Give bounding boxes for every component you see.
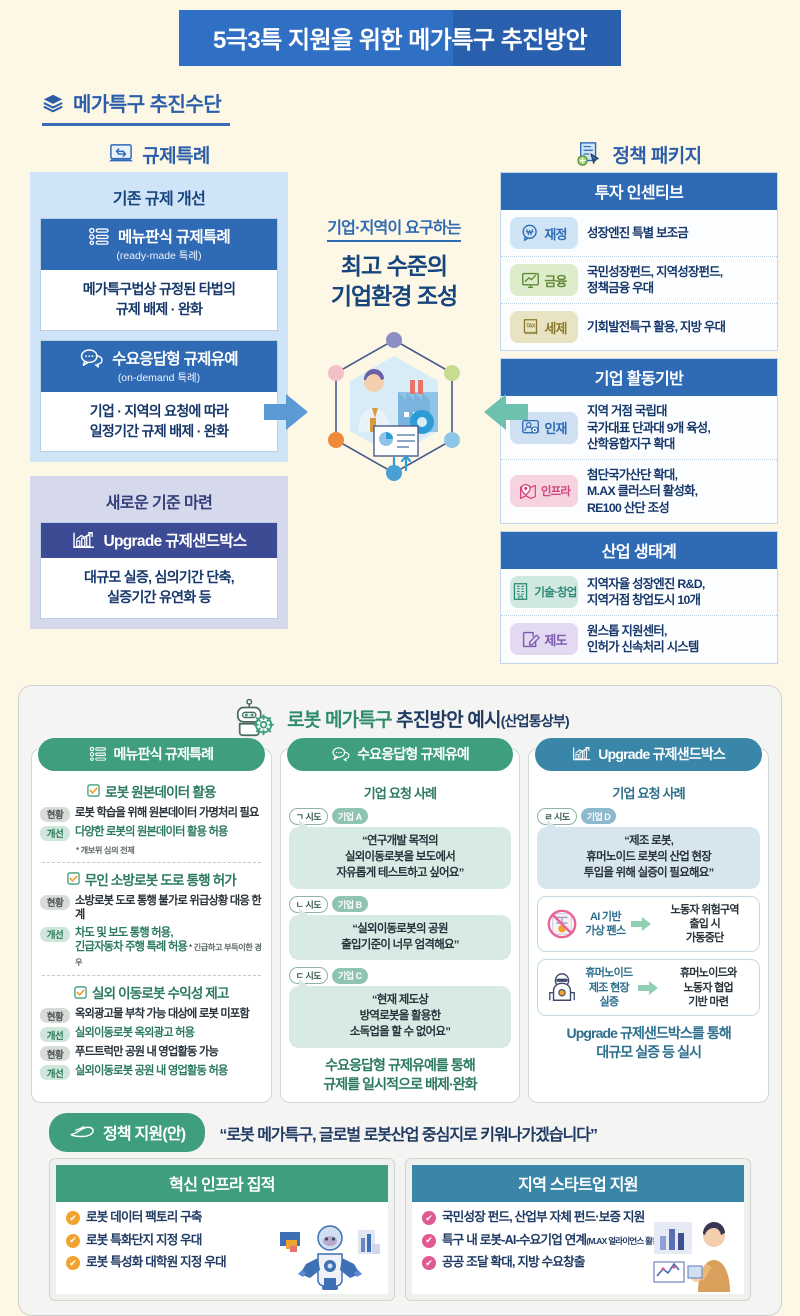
card-body-line2: 실증기간 유연화 등	[47, 587, 271, 607]
arrow-left-teal-icon	[482, 392, 528, 432]
check-square-icon	[74, 986, 87, 999]
bubble-tags: ㄴ 시도기업 B	[289, 896, 512, 913]
demo-result: 노동자 위험구역출입 시가동중단	[657, 903, 752, 946]
row-note: * 긴급하고 부득이한 경우	[75, 943, 262, 967]
status-improvement-row: 현황소방로봇 도로 통행 불가로 위급상황 대응 한계	[40, 894, 263, 923]
robot-panels: 메뉴판식 규제특례 로봇 원본데이터 활용현황로봇 학습을 위해 원본데이터 가…	[31, 748, 769, 1104]
chat-bubble-icon	[331, 746, 351, 762]
request-bubble: ㄴ 시도기업 B“실외이동로봇의 공원출입기준이 너무 엄격해요”	[289, 896, 512, 961]
demo-label: 휴머노이드제조 현장실증	[585, 966, 632, 1009]
left-column: 규제특례 기존 규제 개선 메뉴판식 규제특례 (ready-made 특례)	[30, 136, 288, 671]
policy-row-text: 첨단국가산단 확대,M.AX 클러스터 활성화,RE100 산단 조성	[587, 467, 697, 516]
check-circle-icon: ✔	[422, 1234, 436, 1248]
divider	[42, 975, 261, 976]
policy-chip-label: 금융	[544, 271, 566, 290]
hexagon-business-illustration	[314, 330, 474, 488]
right-column-title: 정책 패키지	[500, 136, 778, 172]
bubble-text: “실외이동로봇의 공원출입기준이 너무 엄격해요”	[289, 915, 512, 961]
item-note: * 개보위 심의 전제	[76, 844, 263, 856]
bottom-item-text: 로봇 특화단지 지정 우대	[86, 1233, 202, 1249]
conclusion-line2: 대규모 실증 등 실시	[537, 1043, 760, 1062]
bubble-list: ㄹ 시도기업 D“제조 로봇,휴머노이드 로봇의 산업 현장투입을 위해 실증이…	[537, 808, 760, 889]
request-bubble: ㄹ 시도기업 D“제조 로봇,휴머노이드 로봇의 산업 현장투입을 위해 실증이…	[537, 808, 760, 889]
policy-row-text: 지역 거점 국립대국가대표 단과대 9개 육성,산학융합지구 확대	[587, 403, 710, 452]
card-menu-type-special[interactable]: 메뉴판식 규제특례 (ready-made 특례) 메가특구법상 규정된 타법의…	[40, 218, 278, 331]
robot-title-sub: (산업통상부)	[501, 713, 569, 729]
policy-row[interactable]: 인프라첨단국가산단 확대,M.AX 클러스터 활성화,RE100 산단 조성	[501, 460, 777, 523]
panel-conclusion: Upgrade 규제샌드박스를 통해 대규모 실증 등 실시	[537, 1024, 760, 1062]
row-text: 실외이동로봇 옥외광고 허용	[75, 1026, 194, 1041]
conclusion-line2: 규제를 일시적으로 배제·완화	[289, 1075, 512, 1094]
bottom-col-infra: 혁신 인프라 집적 ✔로봇 데이터 팩토리 구축✔로봇 특화단지 지정 우대✔로…	[49, 1158, 395, 1301]
row-text: 차도 및 보도 통행 허용,긴급자동차 주행 특례 허용 * 긴급하고 부득이한…	[75, 926, 263, 970]
band-existing-regulation: 기존 규제 개선 메뉴판식 규제특례 (ready-made 특례) 메가특구법	[30, 172, 288, 462]
item-title-label: 로봇 원본데이터 활용	[105, 781, 215, 801]
center-headline-line2: 기업환경 조성	[288, 282, 500, 312]
bubble-tags: ㄱ 시도기업 A	[289, 808, 512, 825]
conclusion-line1: Upgrade 규제샌드박스를 통해	[537, 1024, 760, 1043]
card-body: 기업 · 지역의 요청에 따라 일정기간 규제 배제 · 완화	[41, 392, 277, 452]
right-column: 정책 패키지 투자 인센티브재정성장엔진 특별 보조금금융국민성장펀드, 지역성…	[500, 136, 778, 671]
status-improvement-row: 개선실외이동로봇 공원 내 영업활동 허용	[40, 1064, 263, 1080]
policy-row-text: 국민성장펀드, 지역성장펀드,정책금융 우대	[587, 264, 723, 296]
policy-group-header: 투자 인센티브	[501, 173, 777, 210]
policy-quote: “로봇 메가특구, 글로벌 로봇산업 중심지로 키워나가겠습니다”	[219, 1121, 597, 1145]
demo-row: 휴머노이드제조 현장실증휴머노이드와노동자 협업기반 마련	[537, 959, 760, 1016]
left-column-title: 규제특례	[30, 136, 288, 172]
bubble-text: “제조 로봇,휴머노이드 로봇의 산업 현장투입을 위해 실증이 필요해요”	[537, 827, 760, 889]
item-title-label: 실외 이동로봇 수익성 제고	[92, 982, 229, 1002]
card-header: 수요응답형 규제유예 (on-demand 특례)	[41, 341, 277, 392]
bottom-col-header: 혁신 인프라 집적	[56, 1165, 388, 1202]
chat-bubble-icon	[80, 348, 104, 368]
row-tag: 개선	[40, 826, 70, 841]
no-entry-fence-icon	[545, 908, 579, 940]
layers-icon	[42, 92, 64, 114]
card-header: Upgrade 규제샌드박스	[41, 523, 277, 558]
band-title: 새로운 기준 마련	[30, 482, 288, 520]
row-text: 실외이동로봇 공원 내 영업활동 허용	[75, 1064, 228, 1079]
bubble-text: “연구개발 목적의실외이동로봇을 보도에서자유롭게 테스트하고 싶어요”	[289, 827, 512, 889]
policy-support-label: 정책 지원(안)	[103, 1120, 185, 1144]
arrow-right-icon	[638, 981, 658, 995]
panel-conclusion: 수요응답형 규제유예를 통해 규제를 일시적으로 배제·완화	[289, 1056, 512, 1094]
item-title-label: 무인 소방로봇 도로 통행 허가	[85, 869, 236, 889]
policy-row[interactable]: 금융국민성장펀드, 지역성장펀드,정책금융 우대	[501, 257, 777, 304]
policy-chip: TAX세제	[510, 311, 578, 343]
section-heading-label: 메가특구 추진수단	[73, 88, 221, 117]
band-title: 기존 규제 개선	[30, 178, 288, 216]
bubble-list: ㄱ 시도기업 A“연구개발 목적의실외이동로봇을 보도에서자유롭게 테스트하고 …	[289, 808, 512, 1049]
panel-header: Upgrade 규제샌드박스	[535, 738, 762, 771]
arrow-right-icon	[631, 917, 651, 931]
hand-support-icon	[69, 1123, 95, 1141]
band-new-standard: 새로운 기준 마련 Upgrade 규제샌드박스 대규모 실증, 심의기간 단축…	[30, 476, 288, 629]
demo-label: AI 기반가상 펜스	[585, 910, 625, 939]
bar-chart-up-icon	[572, 746, 592, 762]
card-on-demand-special[interactable]: 수요응답형 규제유예 (on-demand 특례) 기업 · 지역의 요청에 따…	[40, 340, 278, 453]
policy-row-text: 기회발전특구 활용, 지방 우대	[587, 319, 725, 335]
card-upgrade-sandbox[interactable]: Upgrade 규제샌드박스 대규모 실증, 심의기간 단축, 실증기간 유연화…	[40, 522, 278, 619]
bubble-tags: ㄷ 시도기업 C	[289, 967, 512, 984]
building-icon	[511, 582, 530, 601]
bottom-col-body: ✔로봇 데이터 팩토리 구축✔로봇 특화단지 지정 우대✔로봇 특성화 대학원 …	[56, 1202, 388, 1294]
bottom-item-text: 로봇 데이터 팩토리 구축	[86, 1210, 202, 1226]
panel-header-label: 메뉴판식 규제특례	[113, 744, 213, 764]
panel-body: 로봇 원본데이터 활용현황로봇 학습을 위해 원본데이터 가명처리 필요개선다양…	[32, 781, 271, 1081]
center-headline: 최고 수준의 기업환경 조성	[288, 252, 500, 312]
row-text: 소방로봇 도로 통행 불가로 위급상황 대응 한계	[75, 894, 263, 923]
person-chart-illustration	[652, 1220, 738, 1292]
center-headline-line1: 최고 수준의	[288, 252, 500, 282]
panel-header: 수요응답형 규제유예	[287, 738, 514, 771]
row-text: 다양한 로봇의 원본데이터 활용 허용	[75, 825, 228, 840]
check-circle-icon: ✔	[66, 1234, 80, 1248]
bottom-item-text: 로봇 특성화 대학원 지정 우대	[86, 1255, 226, 1271]
bubble-company-tag: 기업 D	[581, 808, 617, 824]
row-tag: 현황	[40, 807, 70, 822]
robot-section-title: 로봇 메가특구 추진방안 예시(산업통상부)	[31, 698, 769, 740]
bottom-item-text: 특구 내 로봇-AI-수요기업 연계(M.AX 얼라이언스 활용)	[442, 1233, 661, 1249]
row-tag: 현황	[40, 1008, 70, 1023]
policy-row-text: 성장엔진 특별 보조금	[587, 225, 688, 241]
card-body: 메가특구법상 규정된 타법의 규제 배제 · 완화	[41, 270, 277, 330]
policy-chip: 재정	[510, 217, 578, 249]
card-subtitle: (on-demand 특례)	[118, 370, 200, 385]
row-tag: 개선	[40, 927, 70, 942]
policy-chip: 인프라	[510, 475, 578, 507]
policy-chip-label: 기술·창업	[534, 584, 576, 600]
tax-receipt-icon: TAX	[521, 318, 540, 337]
check-circle-icon: ✔	[66, 1211, 80, 1225]
card-title: 수요응답형 규제유예	[112, 347, 238, 369]
bubble-company-tag: 기업 C	[332, 968, 368, 984]
main-columns: 규제특례 기존 규제 개선 메뉴판식 규제특례 (ready-made 특례)	[0, 126, 800, 671]
check-circle-icon: ✔	[422, 1256, 436, 1270]
policy-group: 산업 생태계기술·창업지역자율 성장엔진 R&D,지역거점 창업도시 10개제도…	[500, 531, 778, 664]
status-improvement-row: 개선실외이동로봇 옥외광고 허용	[40, 1026, 263, 1042]
policy-support-pill: 정책 지원(안)	[49, 1113, 205, 1152]
policy-group-header: 기업 활동기반	[501, 359, 777, 396]
row-text: 로봇 학습을 위해 원본데이터 가명처리 필요	[75, 806, 259, 821]
card-header: 메뉴판식 규제특례 (ready-made 특례)	[41, 219, 277, 270]
policy-row[interactable]: 인재지역 거점 국립대국가대표 단과대 9개 육성,산학융합지구 확대	[501, 396, 777, 460]
policy-chip-label: 재정	[544, 224, 566, 243]
card-title: Upgrade 규제샌드박스	[104, 529, 247, 551]
case-heading: 기업 요청 사례	[537, 783, 760, 802]
demo-result: 휴머노이드와노동자 협업기반 마련	[664, 966, 752, 1009]
bottom-item-text: 국민성장 펀드, 산업부 자체 펀드·보증 지원	[442, 1210, 645, 1226]
robot-title-strong: 로봇 메가특구	[287, 710, 392, 731]
conclusion-line1: 수요응답형 규제유예를 통해	[289, 1056, 512, 1075]
card-title: 메뉴판식 규제특례	[118, 225, 230, 247]
robot-example-section: 로봇 메가특구 추진방안 예시(산업통상부) 메뉴판식 규제특례 로봇 원본데이…	[18, 685, 782, 1316]
laptop-exchange-icon	[108, 143, 134, 165]
humanoid-robot-icon	[545, 972, 579, 1004]
center-column: 기업·지역이 요구하는 최고 수준의 기업환경 조성	[288, 136, 500, 671]
policy-row-text: 원스톱 지원센터,인허가 신속처리 시스템	[587, 623, 699, 655]
status-improvement-row: 현황로봇 학습을 위해 원본데이터 가명처리 필요	[40, 806, 263, 822]
status-improvement-row: 현황푸드트럭만 공원 내 영업활동 가능	[40, 1045, 263, 1061]
panel-header-label: 수요응답형 규제유예	[357, 744, 469, 764]
status-improvement-row: 현황옥외광고물 부착 가능 대상에 로봇 미포함	[40, 1007, 263, 1023]
page-title: 5극3특 지원을 위한 메가특구 추진방안	[179, 10, 621, 66]
policy-row[interactable]: 기술·창업지역자율 성장엔진 R&D,지역거점 창업도시 10개	[501, 569, 777, 616]
status-improvement-row: 개선다양한 로봇의 원본데이터 활용 허용	[40, 825, 263, 841]
arrow-right-blue-icon	[264, 392, 310, 432]
bottom-item-note: (M.AX 얼라이언스 활용)	[586, 1236, 661, 1246]
policy-chip-label: 제도	[544, 630, 566, 649]
policy-chip: 기술·창업	[510, 576, 578, 608]
chart-monitor-icon	[521, 271, 540, 290]
policy-chip: 금융	[510, 264, 578, 296]
center-illustration-wrap	[288, 330, 500, 490]
map-pin-icon	[518, 482, 537, 501]
policy-group: 기업 활동기반인재지역 거점 국립대국가대표 단과대 9개 육성,산학융합지구 …	[500, 358, 778, 523]
demo-row: AI 기반가상 펜스노동자 위험구역출입 시가동중단	[537, 896, 760, 953]
card-body-line2: 규제 배제 · 완화	[47, 299, 271, 319]
row-tag: 개선	[40, 1027, 70, 1042]
left-column-title-label: 규제특례	[142, 141, 210, 168]
document-plus-icon	[576, 141, 604, 167]
policy-row[interactable]: TAX세제기회발전특구 활용, 지방 우대	[501, 304, 777, 350]
item-title: 무인 소방로봇 도로 통행 허가	[40, 869, 263, 889]
panel-upgrade-sandbox: Upgrade 규제샌드박스 기업 요청 사례 ㄹ 시도기업 D“제조 로봇,휴…	[528, 748, 769, 1104]
bubble-text: “현재 제도상방역로봇을 활용한소독업을 할 수 없어요”	[289, 986, 512, 1048]
robot-gear-icon	[231, 698, 277, 740]
card-body-line1: 대규모 실증, 심의기간 단축,	[47, 567, 271, 587]
bottom-col-header: 지역 스타트업 지원	[412, 1165, 744, 1202]
robot-title-rest: 추진방안 예시	[396, 710, 501, 731]
row-tag: 개선	[40, 1065, 70, 1080]
robot-section-title-text: 로봇 메가특구 추진방안 예시(산업통상부)	[287, 705, 569, 732]
panel-body: 기업 요청 사례 ㄱ 시도기업 A“연구개발 목적의실외이동로봇을 보도에서자유…	[281, 783, 520, 1095]
policy-support-head: 정책 지원(안) “로봇 메가특구, 글로벌 로봇산업 중심지로 키워나가겠습니…	[49, 1113, 751, 1152]
list-bullets-icon	[89, 746, 107, 761]
policy-chip: 제도	[510, 623, 578, 655]
bubble-tags: ㄹ 시도기업 D	[537, 808, 760, 825]
demo-list: AI 기반가상 펜스노동자 위험구역출입 시가동중단휴머노이드제조 현장실증휴머…	[537, 896, 760, 1017]
policy-row-text: 지역자율 성장엔진 R&D,지역거점 창업도시 10개	[587, 576, 705, 608]
panel-menu-type: 메뉴판식 규제특례 로봇 원본데이터 활용현황로봇 학습을 위해 원본데이터 가…	[31, 748, 272, 1104]
card-body-line2: 일정기간 규제 배제 · 완화	[47, 421, 271, 441]
panel-header: 메뉴판식 규제특례	[38, 738, 265, 771]
check-square-icon	[87, 784, 100, 797]
check-circle-icon: ✔	[66, 1256, 80, 1270]
bottom-col-startup: 지역 스타트업 지원 ✔국민성장 펀드, 산업부 자체 펀드·보증 지원✔특구 …	[405, 1158, 751, 1301]
item-title: 실외 이동로봇 수익성 제고	[40, 982, 263, 1002]
bottom-col-body: ✔국민성장 펀드, 산업부 자체 펀드·보증 지원✔특구 내 로봇-AI-수요기…	[412, 1202, 744, 1294]
section-heading: 메가특구 추진수단	[42, 88, 800, 117]
list-bullets-icon	[88, 227, 110, 245]
robot-presenter-illustration	[278, 1216, 382, 1292]
panel-body: 기업 요청 사례 ㄹ 시도기업 D“제조 로봇,휴머노이드 로봇의 산업 현장투…	[529, 783, 768, 1062]
right-column-title-label: 정책 패키지	[612, 141, 701, 168]
case-heading: 기업 요청 사례	[289, 783, 512, 802]
right-groups: 투자 인센티브재정성장엔진 특별 보조금금융국민성장펀드, 지역성장펀드,정책금…	[500, 172, 778, 664]
card-body: 대규모 실증, 심의기간 단축, 실증기간 유연화 등	[41, 558, 277, 618]
request-bubble: ㄱ 시도기업 A“연구개발 목적의실외이동로봇을 보도에서자유롭게 테스트하고 …	[289, 808, 512, 889]
request-bubble: ㄷ 시도기업 C“현재 제도상방역로봇을 활용한소독업을 할 수 없어요”	[289, 967, 512, 1048]
bar-chart-up-icon	[72, 531, 96, 550]
check-circle-icon: ✔	[422, 1211, 436, 1225]
row-tag: 현황	[40, 1046, 70, 1061]
card-body-line1: 기업 · 지역의 요청에 따라	[47, 401, 271, 421]
bubble-company-tag: 기업 A	[332, 808, 368, 824]
bottom-item-text: 공공 조달 확대, 지방 수요창출	[442, 1255, 585, 1271]
won-circle-icon	[521, 224, 540, 243]
item-title: 로봇 원본데이터 활용	[40, 781, 263, 801]
status-improvement-row: 개선차도 및 보도 통행 허용,긴급자동차 주행 특례 허용 * 긴급하고 부득…	[40, 926, 263, 970]
card-subtitle: (ready-made 특례)	[116, 248, 201, 263]
policy-chip-label: 인재	[544, 418, 566, 437]
card-body-line1: 메가특구법상 규정된 타법의	[47, 279, 271, 299]
svg-text:TAX: TAX	[526, 323, 536, 329]
policy-group-header: 산업 생태계	[501, 532, 777, 569]
panel-header-label: Upgrade 규제샌드박스	[598, 744, 725, 764]
policy-chip-label: 인프라	[541, 483, 570, 499]
center-subtitle: 기업·지역이 요구하는	[327, 214, 460, 242]
policy-row[interactable]: 제도원스톱 지원센터,인허가 신속처리 시스템	[501, 616, 777, 662]
policy-row[interactable]: 재정성장엔진 특별 보조금	[501, 210, 777, 257]
panel-on-demand: 수요응답형 규제유예 기업 요청 사례 ㄱ 시도기업 A“연구개발 목적의실외이…	[280, 748, 521, 1104]
divider	[42, 862, 261, 863]
pen-square-icon	[521, 630, 540, 649]
row-text: 옥외광고물 부착 가능 대상에 로봇 미포함	[75, 1007, 249, 1022]
row-text: 푸드트럭만 공원 내 영업활동 가능	[75, 1045, 218, 1060]
bubble-company-tag: 기업 B	[332, 896, 368, 912]
policy-support-section: 정책 지원(안) “로봇 메가특구, 글로벌 로봇산업 중심지로 키워나가겠습니…	[49, 1113, 751, 1301]
row-tag: 현황	[40, 895, 70, 910]
check-square-icon	[67, 872, 80, 885]
policy-group: 투자 인센티브재정성장엔진 특별 보조금금융국민성장펀드, 지역성장펀드,정책금…	[500, 172, 778, 351]
bottom-columns: 혁신 인프라 집적 ✔로봇 데이터 팩토리 구축✔로봇 특화단지 지정 우대✔로…	[49, 1158, 751, 1301]
policy-chip-label: 세제	[544, 318, 566, 337]
